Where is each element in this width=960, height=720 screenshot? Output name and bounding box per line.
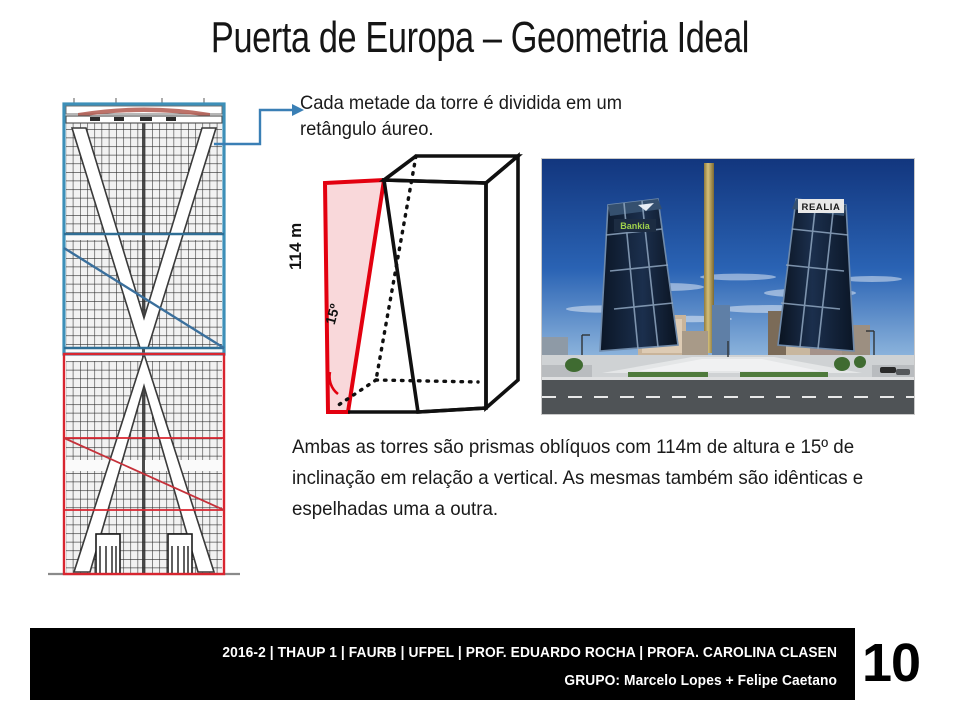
photo-svg: Bankia REALIA (542, 159, 914, 414)
roof-detail (66, 98, 222, 123)
towers-photograph: Bankia REALIA (541, 158, 915, 415)
prism-svg (292, 150, 538, 425)
page-number: 10 (862, 628, 942, 700)
footer-group-line: GRUPO: Marcelo Lopes + Felipe Caetano (70, 667, 837, 695)
prism-height-label: 114 m (286, 223, 306, 270)
elevation-svg (44, 86, 244, 586)
callout-arrow-svg (212, 96, 308, 148)
plaza (542, 355, 914, 379)
tower-elevation-drawing (44, 86, 244, 586)
car (896, 369, 910, 375)
right-tower-sign: REALIA (802, 202, 841, 213)
prism-highlight-face (325, 180, 384, 412)
note-golden-rectangle: Cada metade da torre é dividida em um re… (300, 90, 695, 142)
footer-course-line: 2016-2 | THAUP 1 | FAURB | UFPEL | PROF.… (70, 639, 837, 667)
car (880, 367, 896, 373)
footer-bar: 2016-2 | THAUP 1 | FAURB | UFPEL | PROF.… (30, 628, 855, 700)
prism-front-face (384, 180, 486, 412)
note-prism-description: Ambas as torres são prismas oblíquos com… (292, 432, 868, 525)
page-title: Puerta de Europa – Geometria Ideal (106, 12, 855, 64)
prism-right-face (486, 156, 518, 408)
left-tower-sign: Bankia (620, 221, 651, 231)
callout-arrow (212, 96, 308, 148)
oblique-prism-diagram: 114 m 15º (292, 150, 538, 425)
